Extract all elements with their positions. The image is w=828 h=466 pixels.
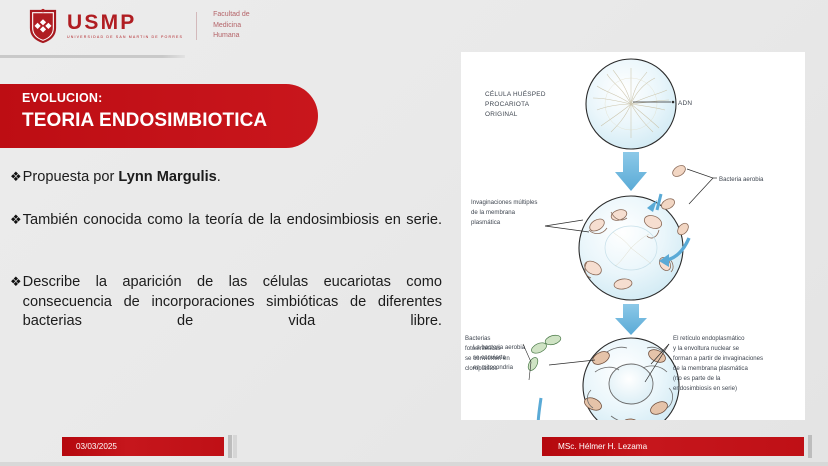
svg-text:y la envoltura nuclear se: y la envoltura nuclear se	[673, 345, 740, 352]
footer-underline	[0, 462, 828, 466]
svg-text:ORIGINAL: ORIGINAL	[485, 111, 518, 118]
diagram-label-host-cell: CÉLULA HUÉSPED	[485, 89, 546, 98]
footer-separator	[228, 435, 232, 458]
faculty-line-3: Humana	[213, 31, 250, 42]
slide-header: USMP UNIVERSIDAD DE SAN MARTIN DE PORRES…	[0, 0, 340, 56]
svg-text:cloroplastos: cloroplastos	[465, 365, 498, 372]
list-item: ❖ Describe la aparición de las células e…	[10, 273, 442, 352]
shield-crest-icon	[28, 8, 58, 44]
svg-text:forman a partir de invaginacio: forman a partir de invaginaciones	[673, 355, 763, 362]
footer-date: 03/03/2025	[62, 437, 224, 456]
faculty-line-1: Facultad de	[213, 10, 250, 21]
svg-text:plasmática: plasmática	[471, 219, 501, 226]
diamond-bullet-icon: ❖	[10, 273, 22, 292]
footer-separator-secondary	[233, 435, 237, 458]
list-item: ❖ Propuesta por Lynn Margulis.	[10, 168, 442, 188]
bullet-list: ❖ Propuesta por Lynn Margulis. ❖ También…	[10, 168, 442, 352]
slide-canvas: USMP UNIVERSIDAD DE SAN MARTIN DE PORRES…	[0, 0, 828, 466]
bullet-text: Propuesta por Lynn Margulis.	[23, 168, 442, 188]
diagram-label-chloroplasts: Bacterias	[465, 335, 490, 342]
bullet-emphasis: Lynn Margulis	[118, 169, 216, 185]
diagram-label-invaginations: Invaginaciones múltiples	[471, 199, 537, 206]
bullet-text: Describe la aparición de las células euc…	[23, 273, 442, 352]
bullet-text: También conocida como la teoría de la en…	[23, 211, 442, 250]
usmp-wordmark: USMP UNIVERSIDAD DE SAN MARTIN DE PORRES	[67, 12, 183, 40]
usmp-brand-subtitle: UNIVERSIDAD DE SAN MARTIN DE PORRES	[67, 35, 183, 40]
footer-separator-right	[808, 435, 812, 458]
logo-divider	[196, 12, 197, 40]
header-divider	[0, 55, 185, 58]
svg-text:fotosintéticas: fotosintéticas	[465, 345, 501, 352]
diamond-bullet-icon: ❖	[10, 168, 22, 187]
diamond-bullet-icon: ❖	[10, 211, 22, 230]
svg-text:se convierten en: se convierten en	[465, 355, 510, 362]
diagram-label-aerobic-bacteria: Bacteria aerobia	[719, 176, 764, 183]
footer-author: MSc. Hélmer H. Lezama	[542, 437, 804, 456]
svg-text:PROCARIOTA: PROCARIOTA	[485, 101, 530, 108]
diagram-label-endoplasmic-reticulum: El retículo endoplasmático	[673, 335, 745, 342]
list-item: ❖ También conocida como la teoría de la …	[10, 211, 442, 250]
svg-text:de la membrana: de la membrana	[471, 209, 516, 216]
svg-text:de la membrana plasmática: de la membrana plasmática	[673, 365, 748, 372]
bullet-text-before: Propuesta por	[23, 169, 119, 185]
faculty-line-2: Medicina	[213, 21, 250, 32]
title-kicker: EVOLUCION:	[22, 91, 318, 105]
bullet-text-after: .	[217, 169, 221, 185]
page-title: TEORIA ENDOSIMBIOTICA	[22, 110, 318, 132]
usmp-logo: USMP UNIVERSIDAD DE SAN MARTIN DE PORRES…	[28, 8, 250, 44]
svg-text:(no es parte de la: (no es parte de la	[673, 375, 721, 382]
endosymbiotic-theory-diagram: CÉLULA HUÉSPED PROCARIOTA ORIGINAL ADN	[461, 52, 805, 420]
svg-text:endosimbiosis en serie): endosimbiosis en serie)	[673, 385, 737, 392]
diagram-label-dna: ADN	[678, 100, 692, 107]
usmp-brand: USMP	[67, 12, 183, 33]
title-banner: EVOLUCION: TEORIA ENDOSIMBIOTICA	[0, 84, 318, 148]
faculty-name: Facultad de Medicina Humana	[213, 10, 250, 42]
